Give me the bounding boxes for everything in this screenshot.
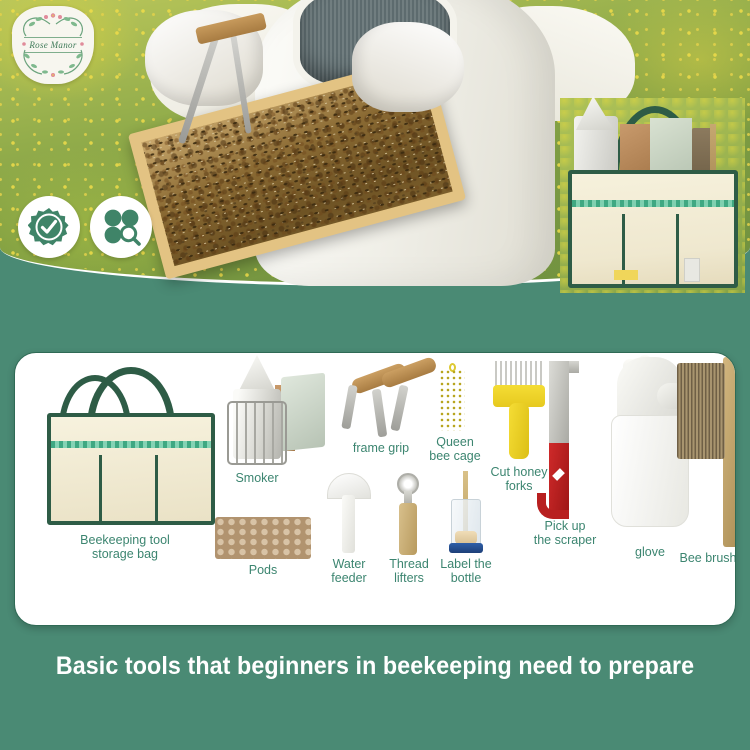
- inspection-magnifier-grid-icon: [100, 206, 142, 248]
- storage-bag-stripe: [51, 441, 211, 448]
- honey-fork-handle: [509, 403, 529, 459]
- trust-badges: [18, 196, 152, 258]
- footer-caption: Basic tools that beginners in beekeeping…: [26, 652, 724, 681]
- floral-wreath-icon: [12, 6, 94, 84]
- tool-label-thread-lifter: Thread lifters: [377, 557, 441, 585]
- tool-label-queen-cage: Queen bee cage: [417, 435, 493, 463]
- product-bag-photo: [560, 98, 745, 293]
- scraper-blade: [549, 361, 569, 447]
- smoker-bellows: [281, 373, 325, 452]
- bag-stripe: [572, 200, 734, 207]
- tools-card: Beekeeping tool storage bag Smoker Pods …: [14, 352, 736, 626]
- smoker-heat-guard: [227, 401, 287, 465]
- tool-item-storage-bag[interactable]: Beekeeping tool storage bag: [25, 361, 225, 541]
- pods-block: [215, 517, 311, 559]
- tool-item-smoker[interactable]: Smoker: [205, 359, 335, 489]
- bag-wood-box: [620, 124, 654, 176]
- bag-body: [568, 170, 738, 288]
- tool-item-bee-brush[interactable]: Bee brush: [677, 363, 736, 563]
- honey-fork-tines: [495, 361, 543, 387]
- tool-label-smoker: Smoker: [205, 471, 309, 485]
- frame-grip-jaw-3: [390, 385, 408, 432]
- tool-item-label-bottle[interactable]: Label the bottle: [447, 477, 527, 587]
- bag-bellows: [650, 118, 692, 176]
- queen-cage-body: [439, 369, 465, 431]
- frame-grip-jaw-1: [341, 385, 358, 430]
- inspection-badge[interactable]: [90, 196, 152, 258]
- beekeeper-right-glove: [352, 22, 464, 112]
- water-feeder-stem: [342, 495, 355, 553]
- frame-grip-handle-2: [380, 356, 438, 389]
- bag-small-tool: [684, 258, 700, 282]
- bag-pocket-divider: [676, 214, 679, 284]
- storage-bag-body: [47, 413, 215, 525]
- bee-brush-bristles: [677, 363, 725, 459]
- thread-lifter-handle: [399, 503, 417, 555]
- brand-logo[interactable]: Rose Manor: [12, 6, 94, 84]
- tool-label-pods: Pods: [215, 563, 311, 577]
- quality-certified-badge[interactable]: [18, 196, 80, 258]
- tool-label-bee-brush: Bee brush: [663, 551, 736, 565]
- tool-label-label-bottle: Label the bottle: [435, 557, 497, 585]
- certified-check-seal-icon: [28, 206, 70, 248]
- label-bottle-cap: [449, 543, 483, 553]
- tool-label-scraper: Pick up the scraper: [521, 519, 609, 547]
- bag-yellow-tool: [614, 270, 638, 280]
- tool-label-water-feeder: Water feeder: [315, 557, 383, 585]
- tool-label-storage-bag: Beekeeping tool storage bag: [25, 533, 225, 561]
- tool-item-pods[interactable]: Pods: [215, 505, 325, 575]
- scraper-hook: [537, 493, 569, 519]
- frame-grip-jaw-2: [372, 389, 388, 438]
